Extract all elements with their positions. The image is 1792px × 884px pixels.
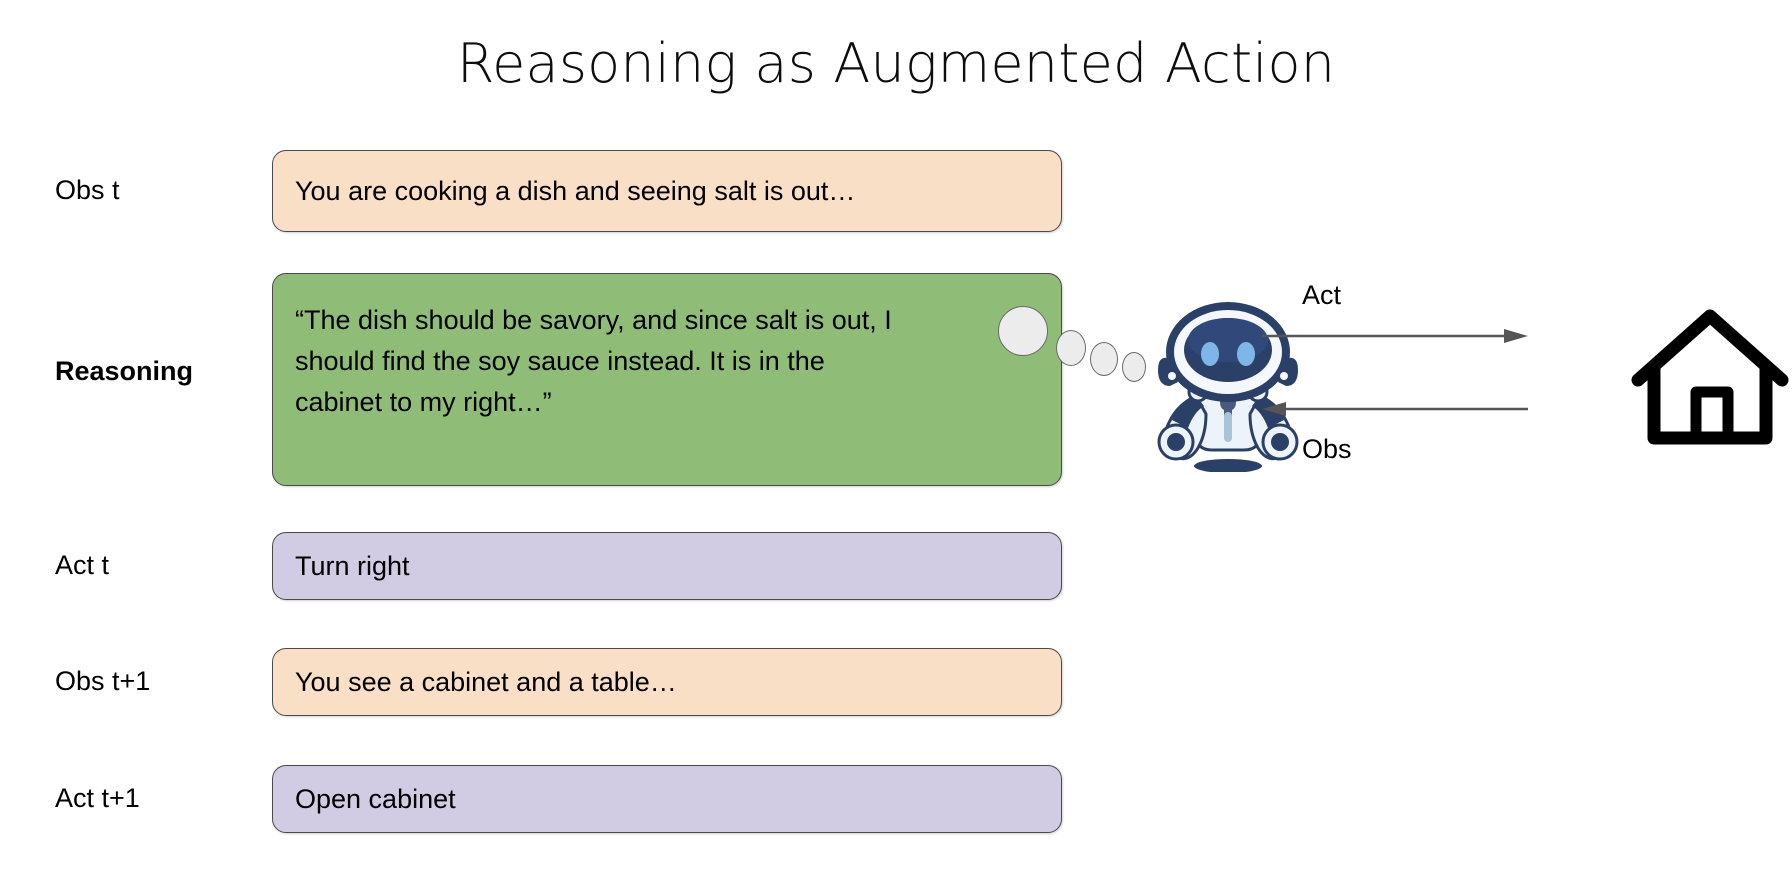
observation-text-t: You are cooking a dish and seeing salt i… — [295, 171, 855, 212]
row-label-obs-t: Obs t — [55, 176, 240, 206]
row-label-obs-t-plus-1: Obs t+1 — [55, 667, 240, 697]
row-label-act-t: Act t — [55, 551, 240, 581]
observation-text-t-plus-1: You see a cabinet and a table… — [295, 662, 677, 703]
action-bubble-t[interactable]: Turn right — [272, 532, 1062, 600]
page-title: Reasoning as Augmented Action — [0, 32, 1792, 95]
reasoning-text-line-2: should find the soy sauce instead. It is… — [295, 341, 1039, 382]
observation-bubble-t-plus-1[interactable]: You see a cabinet and a table… — [272, 648, 1062, 716]
thought-bubble-icon-medium — [1056, 330, 1086, 366]
robot-icon — [1148, 292, 1308, 472]
observation-bubble-t[interactable]: You are cooking a dish and seeing salt i… — [272, 150, 1062, 232]
obs-arrow-label: Obs — [1302, 436, 1352, 463]
agent-environment-diagram: Act Obs — [990, 270, 1792, 530]
thought-bubble-icon-small — [1090, 342, 1118, 376]
thought-bubble-icon-large — [998, 306, 1048, 356]
row-label-act-t-plus-1: Act t+1 — [55, 784, 240, 814]
row-label-reasoning: Reasoning — [55, 357, 240, 387]
obs-arrow-icon — [1260, 398, 1530, 420]
reasoning-text-line-3: cabinet to my right…” — [295, 382, 1039, 423]
act-arrow-icon — [1260, 325, 1530, 347]
action-text-t: Turn right — [295, 546, 410, 587]
thought-bubble-icon-tiny — [1122, 352, 1146, 382]
act-arrow-label: Act — [1302, 282, 1341, 309]
action-text-t-plus-1: Open cabinet — [295, 779, 456, 820]
action-bubble-t-plus-1[interactable]: Open cabinet — [272, 765, 1062, 833]
house-icon — [1630, 306, 1790, 446]
reasoning-text-line-1: “The dish should be savory, and since sa… — [295, 300, 1039, 341]
reasoning-bubble[interactable]: “The dish should be savory, and since sa… — [272, 273, 1062, 486]
